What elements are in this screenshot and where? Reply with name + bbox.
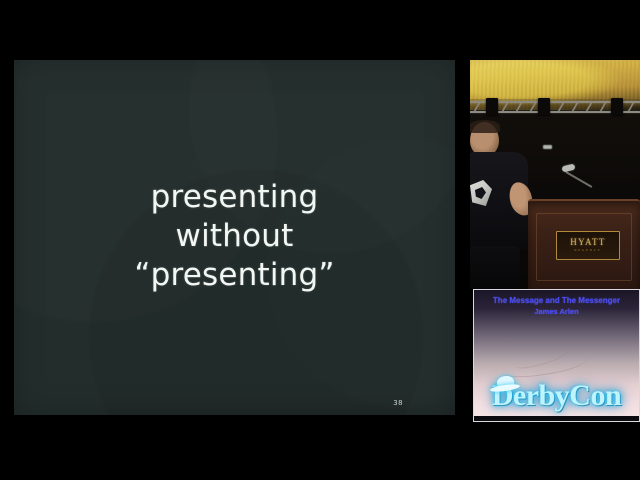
slide-number: 38	[393, 399, 403, 407]
hyatt-plaque-label: HYATT	[570, 238, 606, 247]
lighting-truss	[470, 99, 640, 115]
fedora-hat-icon	[490, 373, 520, 391]
podium: HYATT REGENCY	[528, 199, 640, 289]
presentation-slide[interactable]: presenting without “presenting” 38	[14, 60, 455, 415]
video-player-stage: presenting without “presenting” 38	[0, 0, 640, 480]
title-card-thumbnail[interactable]: The Message and The Messenger James Arle…	[473, 289, 640, 422]
title-card-speaker-name: James Arlen	[474, 307, 639, 317]
stage-light	[611, 98, 623, 115]
slide-text-line-1: presenting	[14, 178, 455, 217]
microphone-boom	[566, 171, 593, 187]
speaker-figure	[470, 122, 532, 289]
speaker-legs	[470, 246, 520, 289]
stage-light	[486, 98, 498, 115]
hyatt-plaque-sublabel: REGENCY	[574, 249, 601, 252]
title-card-talk-title: The Message and The Messenger	[493, 296, 620, 305]
speaker-hair	[470, 120, 500, 133]
derbycon-logo: DerbyCon	[474, 365, 639, 413]
stage-light	[538, 98, 550, 115]
microphone-head	[561, 164, 575, 173]
stage-light-glow	[543, 145, 552, 149]
speaker-camera-feed[interactable]: HYATT REGENCY	[470, 60, 640, 289]
title-card-heading: The Message and The Messenger James Arle…	[474, 296, 639, 317]
letterbox-top	[0, 0, 640, 58]
slide-body-text: presenting without “presenting”	[14, 178, 455, 295]
microphone	[562, 159, 602, 199]
slide-text-line-2: without	[14, 217, 455, 256]
title-card-bottom-strip	[474, 416, 639, 421]
slide-text-line-3: “presenting”	[14, 256, 455, 295]
hyatt-plaque: HYATT REGENCY	[556, 231, 620, 260]
letterbox-bottom	[0, 424, 640, 480]
